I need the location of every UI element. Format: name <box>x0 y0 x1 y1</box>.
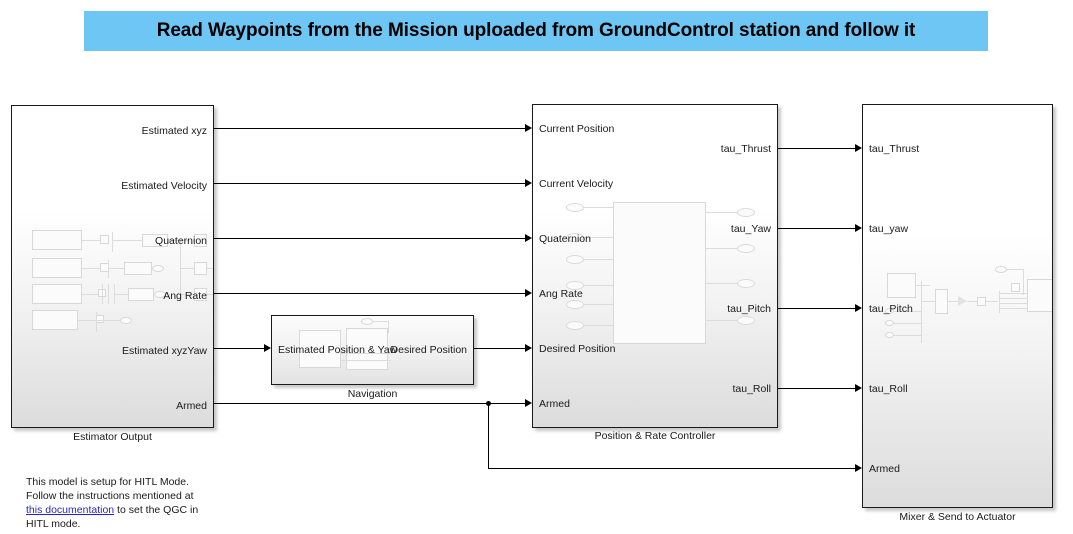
arrow-armed-mixer <box>855 464 862 472</box>
port-label-tau-pitch-controller: tau_Pitch <box>727 304 771 315</box>
port-label-tau-yaw-controller: tau_Yaw <box>731 224 771 235</box>
signal-tau-yaw <box>778 228 857 229</box>
port-label-tau-roll-mixer: tau_Roll <box>869 384 908 395</box>
port-label-tau-thrust-controller: tau_Thrust <box>721 144 771 155</box>
port-label-quaternion: Quaternion <box>155 236 207 247</box>
arrow-armed-controller <box>525 399 532 407</box>
signal-armed-to-mixer <box>488 468 857 469</box>
hitl-note-line1: This model is setup for HITL Mode. <box>26 475 266 489</box>
signal-estimated-xyzyaw <box>214 348 266 349</box>
arrow-quaternion <box>525 234 532 242</box>
hitl-note-line3: this documentation to set the QGC in <box>26 503 266 517</box>
arrow-navigation-input <box>264 344 271 352</box>
block-caption-mixer-send-to-actuator: Mixer & Send to Actuator <box>862 511 1053 523</box>
signal-armed-branch-vertical <box>488 403 489 468</box>
hitl-note-line2: Follow the instructions mentioned at <box>26 489 266 503</box>
port-label-desired-position-nav: Desired Position <box>391 345 467 356</box>
hitl-note-line4: HITL mode. <box>26 517 266 531</box>
port-label-ang-rate-controller: Ang Rate <box>539 289 583 300</box>
port-label-estimated-xyzyaw: Estimated xyzYaw <box>122 346 207 357</box>
arrow-tau-thrust <box>855 144 862 152</box>
arrow-desired-position <box>525 344 532 352</box>
port-label-tau-roll-controller: tau_Roll <box>732 384 771 395</box>
port-label-current-velocity: Current Velocity <box>539 179 613 190</box>
port-label-armed-estimator: Armed <box>176 401 207 412</box>
signal-tau-pitch <box>778 308 857 309</box>
simulink-canvas: Read Waypoints from the Mission uploaded… <box>0 0 1073 534</box>
arrow-current-velocity <box>525 179 532 187</box>
hitl-note: This model is setup for HITL Mode. Follo… <box>26 475 266 531</box>
signal-estimated-xyz <box>214 128 527 129</box>
signal-armed-to-controller <box>214 403 527 404</box>
port-label-armed-controller: Armed <box>539 399 570 410</box>
port-label-estimated-xyz: Estimated xyz <box>142 126 207 137</box>
port-label-tau-pitch-mixer: tau_Pitch <box>869 304 913 315</box>
documentation-link[interactable]: this documentation <box>26 504 114 516</box>
arrow-tau-pitch <box>855 304 862 312</box>
port-label-desired-position-controller: Desired Position <box>539 344 615 355</box>
hitl-note-line3-rest: to set the QGC in <box>114 504 198 516</box>
signal-quaternion <box>214 238 527 239</box>
port-label-quaternion-controller: Quaternion <box>539 234 591 245</box>
signal-estimated-velocity <box>214 183 527 184</box>
port-label-estimated-velocity: Estimated Velocity <box>121 181 207 192</box>
port-label-estimated-position-yaw: Estimated Position & Yaw <box>278 345 397 356</box>
arrow-tau-yaw <box>855 224 862 232</box>
arrow-ang-rate <box>525 289 532 297</box>
port-label-tau-yaw-mixer: tau_yaw <box>869 224 908 235</box>
signal-tau-thrust <box>778 148 857 149</box>
block-position-rate-controller[interactable]: Current Position Current Velocity Quater… <box>532 104 778 428</box>
arrow-tau-roll <box>855 384 862 392</box>
signal-ang-rate <box>214 293 527 294</box>
block-caption-estimator-output: Estimator Output <box>11 431 214 443</box>
block-estimator-output[interactable]: Estimated xyz Estimated Velocity Quatern… <box>11 105 214 428</box>
port-label-current-position: Current Position <box>539 124 614 135</box>
block-mixer-send-to-actuator[interactable]: tau_Thrust tau_yaw tau_Pitch tau_Roll Ar… <box>862 104 1053 508</box>
port-label-ang-rate: Ang Rate <box>163 291 207 302</box>
port-label-armed-mixer: Armed <box>869 464 900 475</box>
signal-tau-roll <box>778 388 857 389</box>
arrow-current-position <box>525 124 532 132</box>
block-caption-navigation: Navigation <box>271 388 474 400</box>
block-caption-position-rate-controller: Position & Rate Controller <box>532 430 778 442</box>
title-banner: Read Waypoints from the Mission uploaded… <box>84 11 988 51</box>
signal-desired-position <box>474 348 527 349</box>
page-title: Read Waypoints from the Mission uploaded… <box>157 20 916 42</box>
block-navigation[interactable]: Estimated Position & Yaw Desired Positio… <box>271 315 474 385</box>
port-label-tau-thrust-mixer: tau_Thrust <box>869 144 919 155</box>
